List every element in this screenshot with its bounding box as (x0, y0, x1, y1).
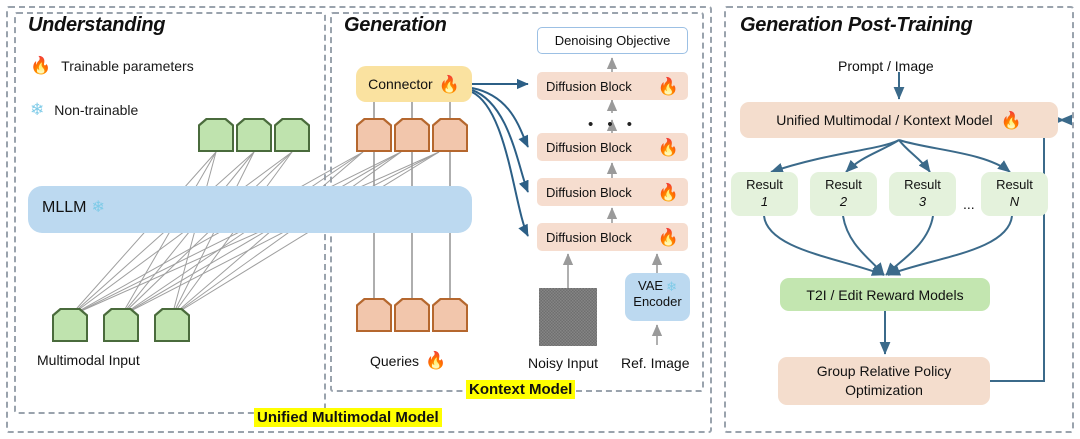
flame-icon: 🔥 (658, 78, 679, 95)
flame-icon: 🔥 (425, 352, 446, 369)
snowflake-icon: ❄ (91, 200, 104, 216)
vae-label-line1: VAE (638, 278, 663, 294)
query-token (356, 298, 392, 332)
understanding-token (274, 118, 310, 152)
post-training-title: Generation Post-Training (740, 14, 972, 37)
multimodal-input-caption: Multimodal Input (37, 352, 140, 368)
query-token (356, 118, 392, 152)
multimodal-input-token (52, 308, 88, 342)
flame-icon: 🔥 (1001, 112, 1022, 129)
diffusion-block: Diffusion Block 🔥 (537, 223, 688, 251)
ref-image-caption: Ref. Image (621, 355, 689, 371)
result-index: N (1010, 194, 1019, 211)
multimodal-input-token (103, 308, 139, 342)
understanding-token (198, 118, 234, 152)
result-name: Result (825, 177, 862, 194)
legend-trainable: 🔥 Trainable parameters (30, 57, 194, 74)
diffusion-block-label: Diffusion Block (546, 140, 632, 155)
noisy-input-image (539, 288, 597, 346)
grpo-label-line1: Group Relative Policy (817, 362, 952, 381)
mllm-label: MLLM (42, 199, 86, 217)
flame-icon: 🔥 (658, 184, 679, 201)
result-name: Result (746, 177, 783, 194)
prompt-image-label: Prompt / Image (838, 58, 934, 74)
result-box: Result 3 (889, 172, 956, 216)
query-token (432, 118, 468, 152)
flame-icon: 🔥 (658, 229, 679, 246)
results-ellipsis: ... (963, 196, 975, 212)
flame-icon: 🔥 (439, 76, 460, 93)
unified-kontext-model-label: Unified Multimodal / Kontext Model (776, 112, 992, 128)
diffusion-block: Diffusion Block 🔥 (537, 178, 688, 206)
figure-root: Understanding 🔥 Trainable parameters ❄ N… (0, 0, 1080, 439)
diffusion-block-label: Diffusion Block (546, 230, 632, 245)
grpo-label-line2: Optimization (817, 381, 952, 400)
query-token (432, 298, 468, 332)
result-box: Result 1 (731, 172, 798, 216)
unified-kontext-model-block: Unified Multimodal / Kontext Model 🔥 (740, 102, 1058, 138)
denoising-objective-block: Denoising Objective (537, 27, 688, 54)
vae-label-line2: Encoder (625, 294, 690, 310)
flame-icon: 🔥 (658, 139, 679, 156)
kontext-model-label: Kontext Model (466, 380, 575, 399)
generation-title: Generation (344, 14, 447, 37)
result-index: 1 (761, 194, 768, 211)
diffusion-block-label: Diffusion Block (546, 79, 632, 94)
queries-caption: Queries (370, 353, 419, 369)
result-index: 3 (919, 194, 926, 211)
mllm-label-group: MLLM ❄ (42, 199, 105, 217)
unified-multimodal-model-label: Unified Multimodal Model (254, 408, 442, 427)
vae-encoder-block: VAE ❄ Encoder (625, 273, 690, 321)
query-token (394, 118, 430, 152)
diffusion-block: Diffusion Block 🔥 (537, 133, 688, 161)
queries-caption-group: Queries 🔥 (370, 352, 446, 369)
result-box: Result 2 (810, 172, 877, 216)
legend-non-trainable-label: Non-trainable (54, 102, 138, 118)
reward-models-block: T2I / Edit Reward Models (780, 278, 990, 311)
diffusion-block-label: Diffusion Block (546, 185, 632, 200)
result-box: Result N (981, 172, 1048, 216)
legend-non-trainable: ❄ Non-trainable (30, 101, 138, 118)
grpo-block: Group Relative Policy Optimization (778, 357, 990, 405)
result-name: Result (996, 177, 1033, 194)
snowflake-icon: ❄ (666, 280, 677, 293)
result-index: 2 (840, 194, 847, 211)
legend-trainable-label: Trainable parameters (61, 58, 194, 74)
diffusion-block: Diffusion Block 🔥 (537, 72, 688, 100)
result-name: Result (904, 177, 941, 194)
understanding-title: Understanding (28, 14, 165, 37)
understanding-token (236, 118, 272, 152)
query-token (394, 298, 430, 332)
diffusion-ellipsis: • • • (537, 117, 688, 132)
connector-block: Connector 🔥 (356, 66, 472, 102)
connector-label: Connector (368, 76, 433, 92)
multimodal-input-token (154, 308, 190, 342)
snowflake-icon: ❄ (30, 101, 44, 118)
noisy-input-caption: Noisy Input (528, 355, 598, 371)
flame-icon: 🔥 (30, 57, 51, 74)
